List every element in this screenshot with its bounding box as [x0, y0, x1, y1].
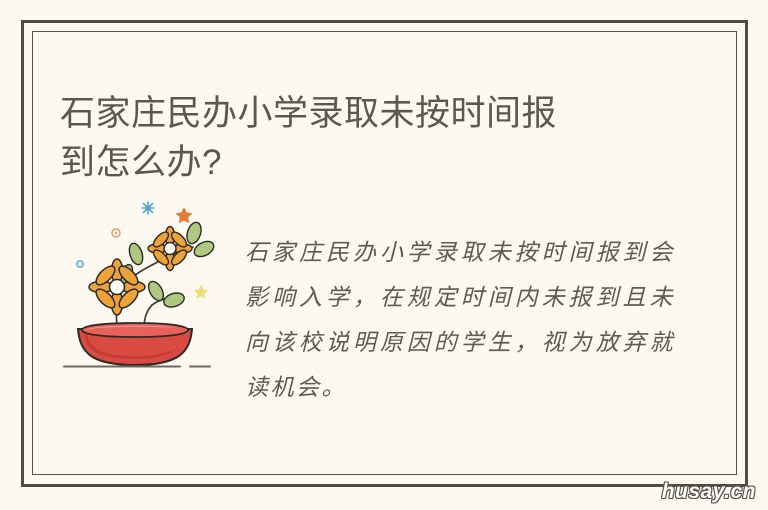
sparkle-icon-orange-ring — [112, 229, 120, 237]
sparkle-icon-blue — [142, 202, 154, 214]
sparkle-icon-orange-star — [176, 207, 193, 223]
article-card: 石家庄民办小学录取未按时间报 到怎么办? — [21, 20, 748, 487]
flower-pot — [78, 323, 192, 365]
sparkle-icon-yellow — [194, 285, 208, 299]
site-watermark: husay.cn — [662, 480, 756, 504]
article-content: 石家庄民办小学录取未按时间报到会影响入学，在规定时间内未报到且未向该校说明原因的… — [60, 193, 723, 433]
sparkle-icon-blue-dot — [77, 261, 83, 267]
flower-pot-illustration — [60, 193, 235, 383]
page-title: 石家庄民办小学录取未按时间报 到怎么办? — [60, 89, 660, 187]
flower-icon-large — [89, 259, 145, 315]
article-body: 石家庄民办小学录取未按时间报到会影响入学，在规定时间内未报到且未向该校说明原因的… — [245, 216, 675, 410]
